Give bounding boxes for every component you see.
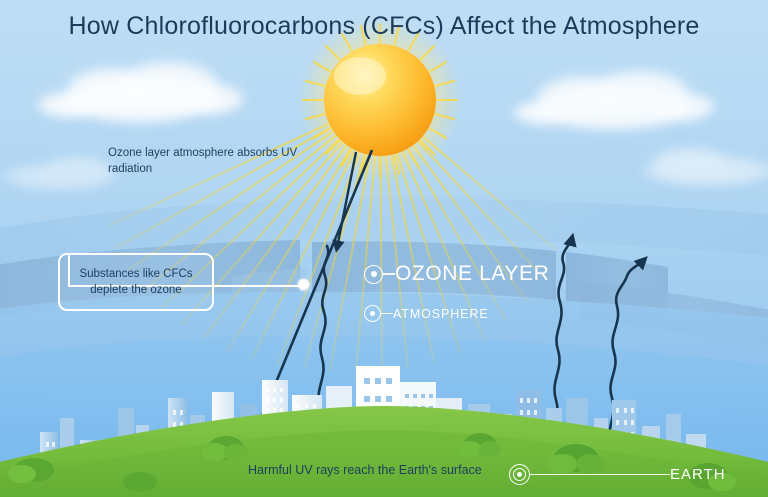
marker-label-earth: EARTH — [670, 466, 726, 483]
uv-surface-note: Harmful UV rays reach the Earth's surfac… — [248, 462, 482, 479]
cfc-callout-box[interactable]: Substances like CFCs deplete the ozone — [58, 253, 214, 311]
target-ring-icon — [364, 305, 381, 322]
marker-earth: EARTH — [509, 464, 726, 485]
target-ring-icon — [364, 265, 383, 284]
callout-endpoint-dot — [298, 279, 309, 290]
marker-atmosphere: ATMOSPHERE — [364, 305, 489, 322]
marker-ozone-layer: OZONE LAYER — [364, 262, 549, 286]
page-title: How Chlorofluorocarbons (CFCs) Affect th… — [0, 12, 768, 41]
marker-label-ozone-layer: OZONE LAYER — [395, 262, 549, 286]
bush-icon — [123, 472, 157, 492]
marker-leader-line — [381, 313, 393, 314]
marker-leader-line — [530, 474, 670, 475]
ozone-absorbs-note: Ozone layer atmosphere absorbs UV radiat… — [108, 146, 298, 177]
marker-label-atmosphere: ATMOSPHERE — [393, 307, 489, 321]
marker-leader-line — [383, 273, 395, 274]
earth-surface-group — [0, 0, 768, 497]
target-ring-icon — [509, 464, 530, 485]
infographic-canvas: How Chlorofluorocarbons (CFCs) Affect th… — [0, 0, 768, 497]
